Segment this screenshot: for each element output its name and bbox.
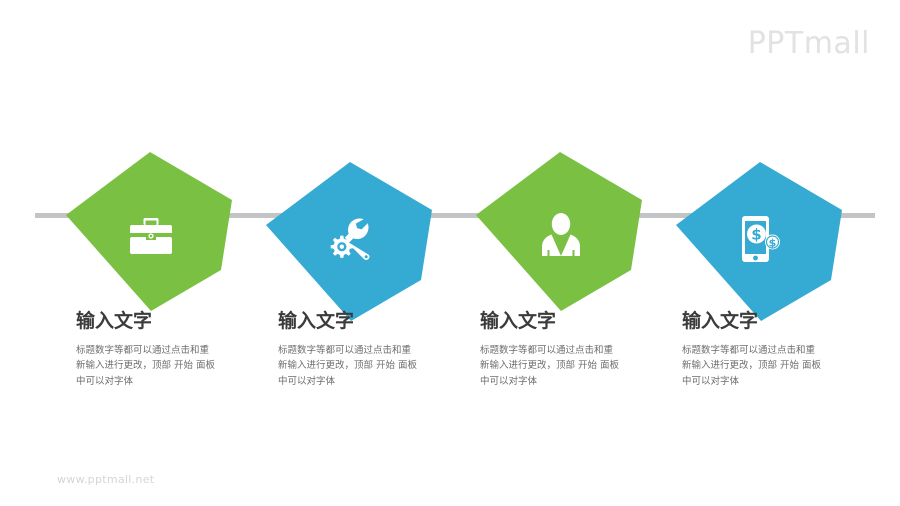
item-desc-line-3: 中可以对字体 — [278, 376, 335, 387]
text-block-3: 输入文字 标题数字等都可以通过点击和重 新输入进行更改，顶部 开始 面板 中可以… — [480, 310, 670, 390]
item-desc-line-2: 新输入进行更改，顶部 开始 面板 — [480, 360, 619, 371]
item-desc-line-2: 新输入进行更改，顶部 开始 面板 — [76, 360, 215, 371]
item-desc-line-3: 中可以对字体 — [682, 376, 739, 387]
item-desc-line-1: 标题数字等都可以通过点击和重 — [76, 345, 209, 356]
pentagon-shape-1 — [58, 152, 233, 312]
item-title-3[interactable]: 输入文字 — [480, 310, 670, 333]
footer-website-url[interactable]: www.pptmall.net — [57, 473, 154, 486]
pentagon-shape-4 — [668, 162, 843, 322]
item-title-4[interactable]: 输入文字 — [682, 310, 872, 333]
item-description-2[interactable]: 标题数字等都可以通过点击和重 新输入进行更改，顶部 开始 面板 中可以对字体 — [278, 343, 428, 390]
item-desc-line-1: 标题数字等都可以通过点击和重 — [278, 345, 411, 356]
item-desc-line-1: 标题数字等都可以通过点击和重 — [682, 345, 815, 356]
item-desc-line-1: 标题数字等都可以通过点击和重 — [480, 345, 613, 356]
item-desc-line-2: 新输入进行更改，顶部 开始 面板 — [682, 360, 821, 371]
item-desc-line-3: 中可以对字体 — [480, 376, 537, 387]
item-description-4[interactable]: 标题数字等都可以通过点击和重 新输入进行更改，顶部 开始 面板 中可以对字体 — [682, 343, 832, 390]
item-description-3[interactable]: 标题数字等都可以通过点击和重 新输入进行更改，顶部 开始 面板 中可以对字体 — [480, 343, 630, 390]
item-description-1[interactable]: 标题数字等都可以通过点击和重 新输入进行更改，顶部 开始 面板 中可以对字体 — [76, 343, 226, 390]
text-block-1: 输入文字 标题数字等都可以通过点击和重 新输入进行更改，顶部 开始 面板 中可以… — [76, 310, 266, 390]
text-block-4: 输入文字 标题数字等都可以通过点击和重 新输入进行更改，顶部 开始 面板 中可以… — [682, 310, 872, 390]
item-desc-line-3: 中可以对字体 — [76, 376, 133, 387]
item-title-1[interactable]: 输入文字 — [76, 310, 266, 333]
pentagon-shape-3 — [468, 152, 643, 312]
text-block-2: 输入文字 标题数字等都可以通过点击和重 新输入进行更改，顶部 开始 面板 中可以… — [278, 310, 468, 390]
item-title-2[interactable]: 输入文字 — [278, 310, 468, 333]
slide-canvas: PPTmall — [0, 0, 900, 506]
item-desc-line-2: 新输入进行更改，顶部 开始 面板 — [278, 360, 417, 371]
pentagon-shape-2 — [258, 162, 433, 322]
pentagon-node-row: $ $ — [0, 0, 900, 506]
